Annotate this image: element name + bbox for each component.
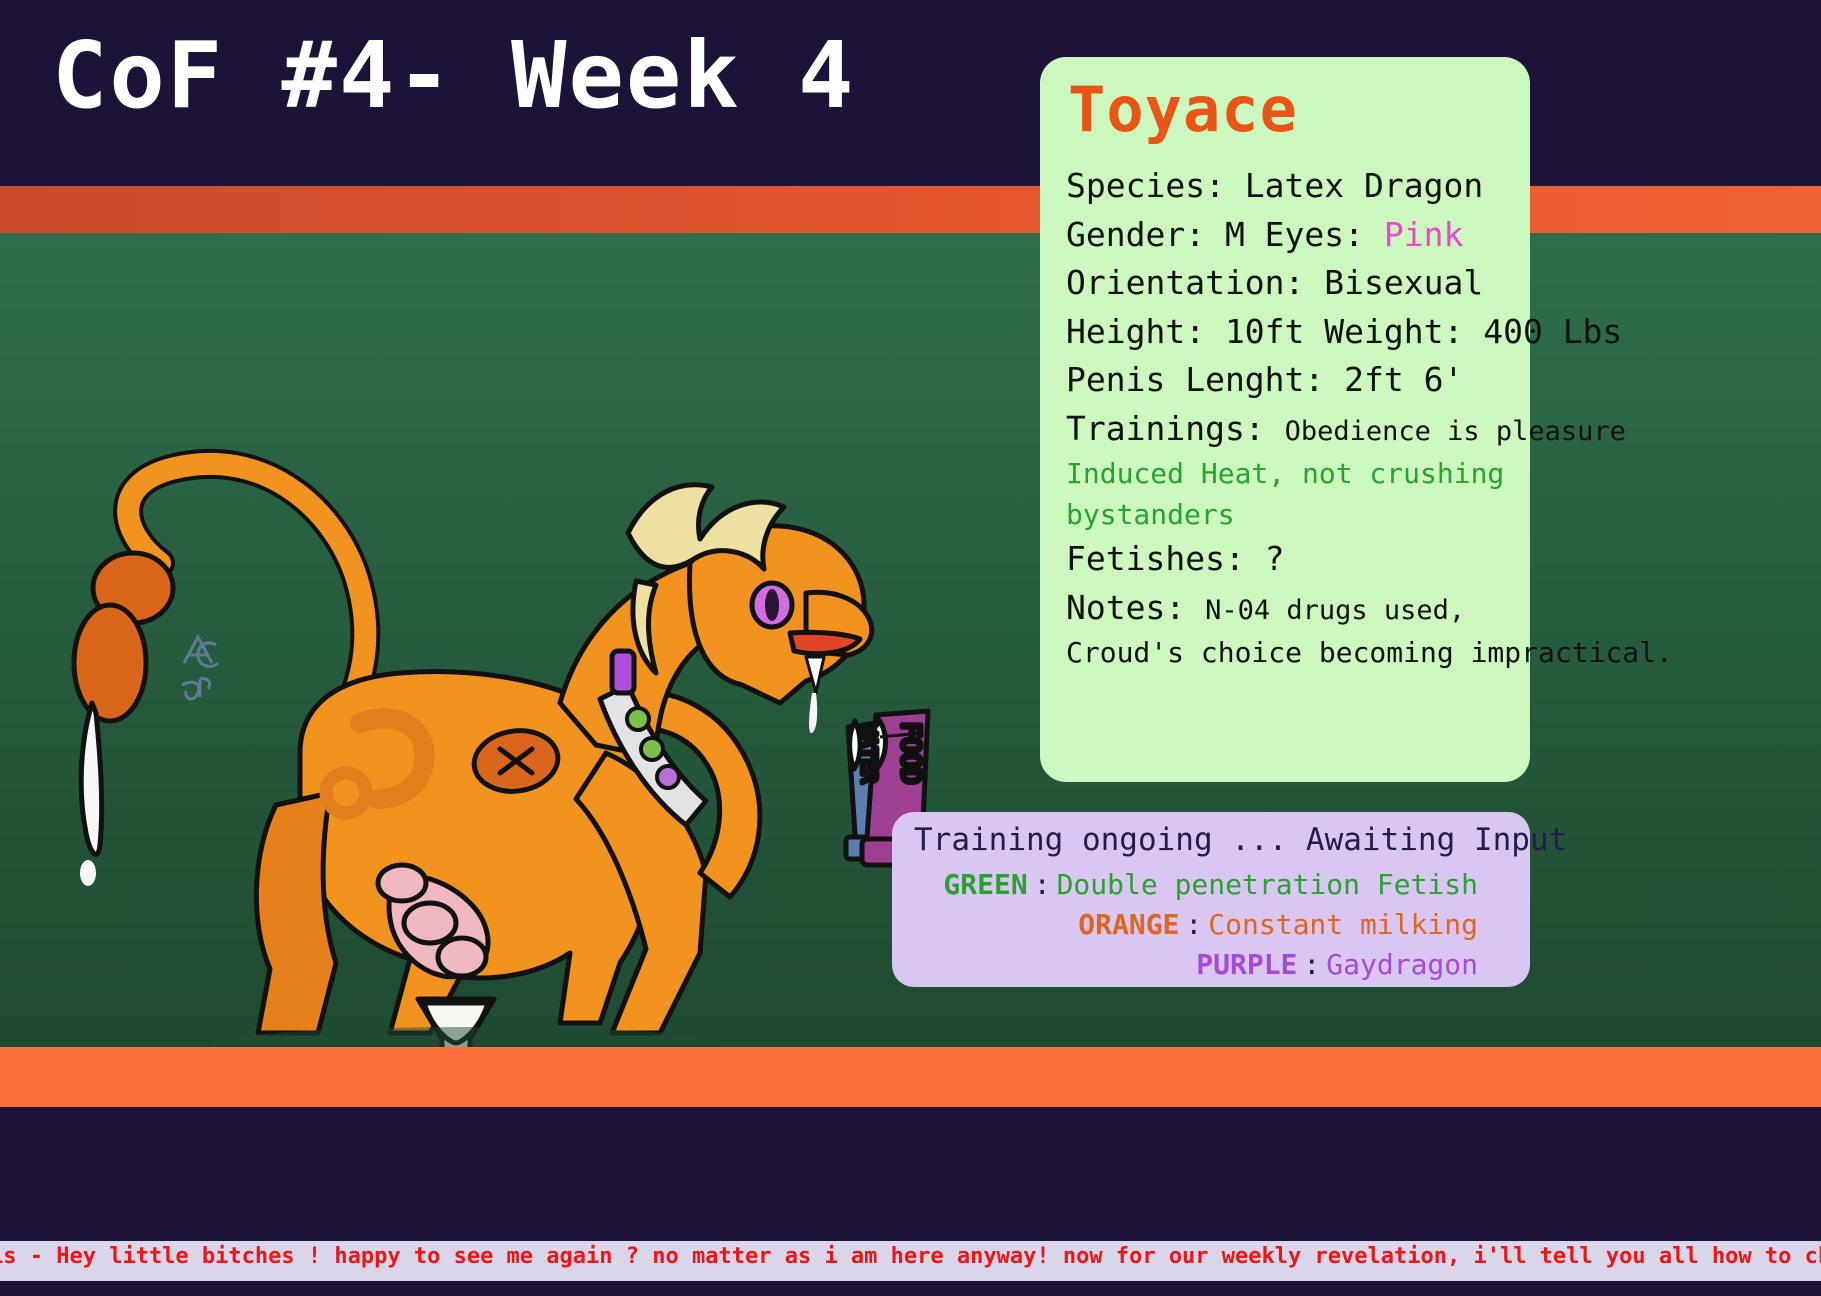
choice-sep-orange: : <box>1185 905 1202 945</box>
divider-orange-top <box>0 186 1821 233</box>
stat-eye-color: Pink <box>1384 215 1463 254</box>
choice-key-green: GREEN <box>943 865 1027 905</box>
stat-trainings-extra-2: bystanders <box>1066 494 1514 535</box>
choice-option-list: GREEN : Double penetration Fetish ORANGE… <box>892 865 1530 984</box>
ticker-text: is - Hey little bitches ! happy to see m… <box>0 1244 1821 1269</box>
svg-text:FOOD: FOOD <box>895 722 925 785</box>
stat-height-weight: Height: 10ft Weight: 400 Lbs <box>1066 308 1514 357</box>
stat-gender-label: Gender: M Eyes: <box>1066 215 1384 254</box>
stat-trainings-value: Obedience is pleasure <box>1285 416 1626 447</box>
choice-key-orange: ORANGE <box>1078 905 1179 945</box>
stat-penis-length: Penis Lenght: 2ft 6' <box>1066 356 1514 405</box>
svg-text:WATER: WATER <box>857 723 881 784</box>
choice-option-purple[interactable]: PURPLE : Gaydragon <box>892 945 1530 985</box>
choice-key-purple: PURPLE <box>1196 945 1297 985</box>
ticker-bottom-band <box>0 1281 1821 1296</box>
stat-species: Species: Latex Dragon <box>1066 162 1514 211</box>
divider-orange-bottom <box>0 1047 1821 1107</box>
character-info-card: Toyace Species: Latex Dragon Gender: M E… <box>1040 57 1530 782</box>
character-name: Toyace <box>1068 79 1298 141</box>
choice-option-green[interactable]: GREEN : Double penetration Fetish <box>892 865 1530 905</box>
footer-dark-band <box>0 1107 1821 1241</box>
choice-option-orange[interactable]: ORANGE : Constant milking <box>892 905 1530 945</box>
stat-trainings: Trainings: Obedience is pleasure <box>1066 405 1514 454</box>
training-choice-panel: Training ongoing ... Awaiting Input GREE… <box>892 812 1530 987</box>
stat-trainings-extra-1: Induced Heat, not crushing <box>1066 453 1514 494</box>
choice-sep-purple: : <box>1303 945 1320 985</box>
choice-panel-title: Training ongoing ... Awaiting Input <box>914 822 1567 858</box>
stat-notes-line-2: Croud's choice becoming impractical. <box>1066 632 1514 673</box>
header-bar: CoF #4- Week 4 <box>0 0 1821 186</box>
news-ticker: is - Hey little bitches ! happy to see m… <box>0 1241 1821 1283</box>
stat-gender-eyes: Gender: M Eyes: Pink <box>1066 211 1514 260</box>
stat-trainings-label: Trainings: <box>1066 409 1265 448</box>
choice-sep-green: : <box>1034 865 1051 905</box>
choice-label-orange: Constant milking <box>1208 905 1478 945</box>
page-title: CoF #4- Week 4 <box>52 30 855 122</box>
stat-fetishes: Fetishes: ? <box>1066 535 1514 584</box>
choice-label-purple: Gaydragon <box>1326 945 1478 985</box>
poster-root: CoF #4- Week 4 <box>0 0 1821 1296</box>
character-stats-list: Species: Latex Dragon Gender: M Eyes: Pi… <box>1066 162 1514 673</box>
stat-notes-line-1: N-04 drugs used, <box>1205 595 1465 626</box>
stat-orientation: Orientation: Bisexual <box>1066 259 1514 308</box>
stat-notes-label: Notes: <box>1066 588 1185 627</box>
choice-label-green: Double penetration Fetish <box>1057 865 1478 905</box>
stat-notes: Notes: N-04 drugs used, <box>1066 584 1514 633</box>
